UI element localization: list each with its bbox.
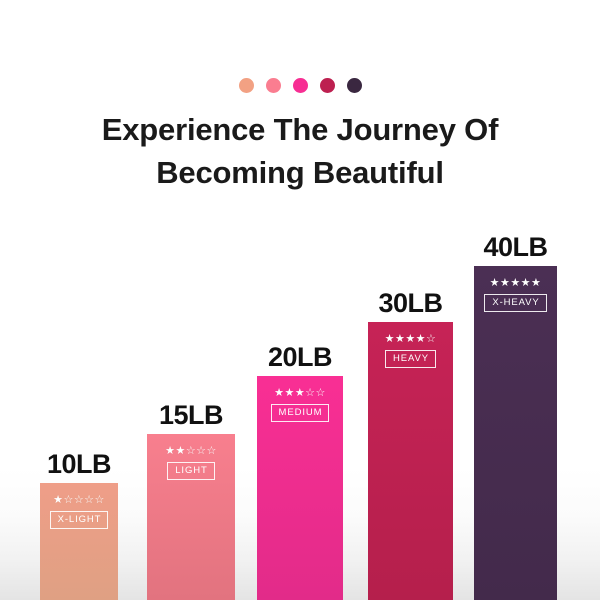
bar-weight-label: 30LB xyxy=(378,288,442,318)
star-rating: ★★☆☆☆ xyxy=(165,445,217,457)
star-rating: ★★★★☆ xyxy=(385,333,437,345)
bar-weight-label: 10LB xyxy=(47,449,111,479)
bar-group: 40LB★★★★★X-HEAVY xyxy=(474,266,557,600)
tier-badge: LIGHT xyxy=(167,462,214,480)
star-rating: ★☆☆☆☆ xyxy=(53,494,105,506)
star-rating: ★★★☆☆ xyxy=(274,387,326,399)
bar-weight-label: 20LB xyxy=(268,342,332,372)
bar-group: 20LB★★★☆☆MEDIUM xyxy=(257,376,343,600)
tier-badge: X-LIGHT xyxy=(50,511,109,529)
bar-weight-label: 15LB xyxy=(159,400,223,430)
bar: ★☆☆☆☆X-LIGHT xyxy=(40,483,118,600)
star-rating: ★★★★★ xyxy=(490,277,542,289)
bar: ★★★★★X-HEAVY xyxy=(474,266,557,600)
bar-group: 15LB★★☆☆☆LIGHT xyxy=(147,434,235,600)
tier-badge: MEDIUM xyxy=(271,404,330,422)
bar: ★★★☆☆MEDIUM xyxy=(257,376,343,600)
tier-badge: HEAVY xyxy=(385,350,436,368)
resistance-bar-chart: 10LB★☆☆☆☆X-LIGHT15LB★★☆☆☆LIGHT20LB★★★☆☆M… xyxy=(0,0,600,600)
promo-graphic: Experience The Journey Of Becoming Beaut… xyxy=(0,0,600,600)
bar-weight-label: 40LB xyxy=(483,232,547,262)
bar-group: 30LB★★★★☆HEAVY xyxy=(368,322,453,600)
bar-group: 10LB★☆☆☆☆X-LIGHT xyxy=(40,483,118,600)
bar: ★★★★☆HEAVY xyxy=(368,322,453,600)
bar: ★★☆☆☆LIGHT xyxy=(147,434,235,600)
tier-badge: X-HEAVY xyxy=(484,294,546,312)
